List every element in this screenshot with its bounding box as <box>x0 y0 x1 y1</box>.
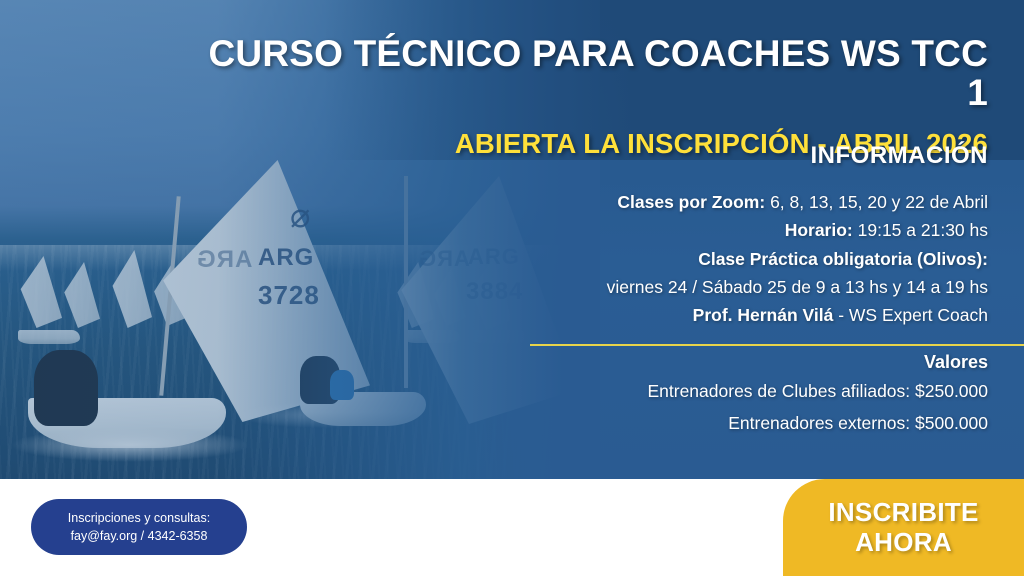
info-line-value: 6, 8, 13, 15, 20 y 22 de Abril <box>765 192 988 212</box>
cta-label: INSCRIBITEAHORA <box>828 498 978 557</box>
info-line-label: Clases por Zoom: <box>617 192 765 212</box>
info-line-value: - WS Expert Coach <box>833 305 988 325</box>
info-line: viernes 24 / Sábado 25 de 9 a 13 hs y 14… <box>268 273 988 301</box>
contact-pill[interactable]: Inscripciones y consultas: fay@fay.org /… <box>31 499 247 555</box>
cta-line-1: INSCRIBITE <box>828 497 978 527</box>
values-heading: Valores <box>268 352 988 373</box>
information-heading: INFORMACIÓN <box>268 142 988 170</box>
information-lines: Clases por Zoom: 6, 8, 13, 15, 20 y 22 d… <box>268 188 988 330</box>
info-line: Clases por Zoom: 6, 8, 13, 15, 20 y 22 d… <box>268 188 988 216</box>
info-line: Prof. Hernán Vilá - WS Expert Coach <box>268 301 988 329</box>
information-block: INFORMACIÓN Clases por Zoom: 6, 8, 13, 1… <box>268 142 988 330</box>
poster: ARG ARG 3728 ⌀ ARG ARG 3884 CURSO TÉCNIC… <box>0 0 1024 576</box>
info-line: Horario: 19:15 a 21:30 hs <box>268 216 988 244</box>
info-line-label: Prof. Hernán Vilá <box>693 305 834 325</box>
cta-line-2: AHORA <box>855 527 952 557</box>
values-row: Entrenadores externos: $500.000 <box>268 409 988 437</box>
contact-line-2: fay@fay.org / 4342-6358 <box>71 527 208 545</box>
section-divider <box>530 344 1024 346</box>
info-line-label: Clase Práctica obligatoria (Olivos): <box>698 249 988 269</box>
info-line-value: 19:15 a 21:30 hs <box>853 220 988 240</box>
info-line: Clase Práctica obligatoria (Olivos): <box>268 245 988 273</box>
info-line-value: viernes 24 / Sábado 25 de 9 a 13 hs y 14… <box>607 277 988 297</box>
page-title: CURSO TÉCNICO PARA COACHES WS TCC 1 <box>188 34 988 112</box>
inscribite-ahora-button[interactable]: INSCRIBITEAHORA <box>783 479 1024 576</box>
info-line-label: Horario: <box>785 220 853 240</box>
contact-line-1: Inscripciones y consultas: <box>68 509 210 527</box>
values-row: Entrenadores de Clubes afiliados: $250.0… <box>268 377 988 405</box>
values-block: Valores Entrenadores de Clubes afiliados… <box>268 352 988 438</box>
